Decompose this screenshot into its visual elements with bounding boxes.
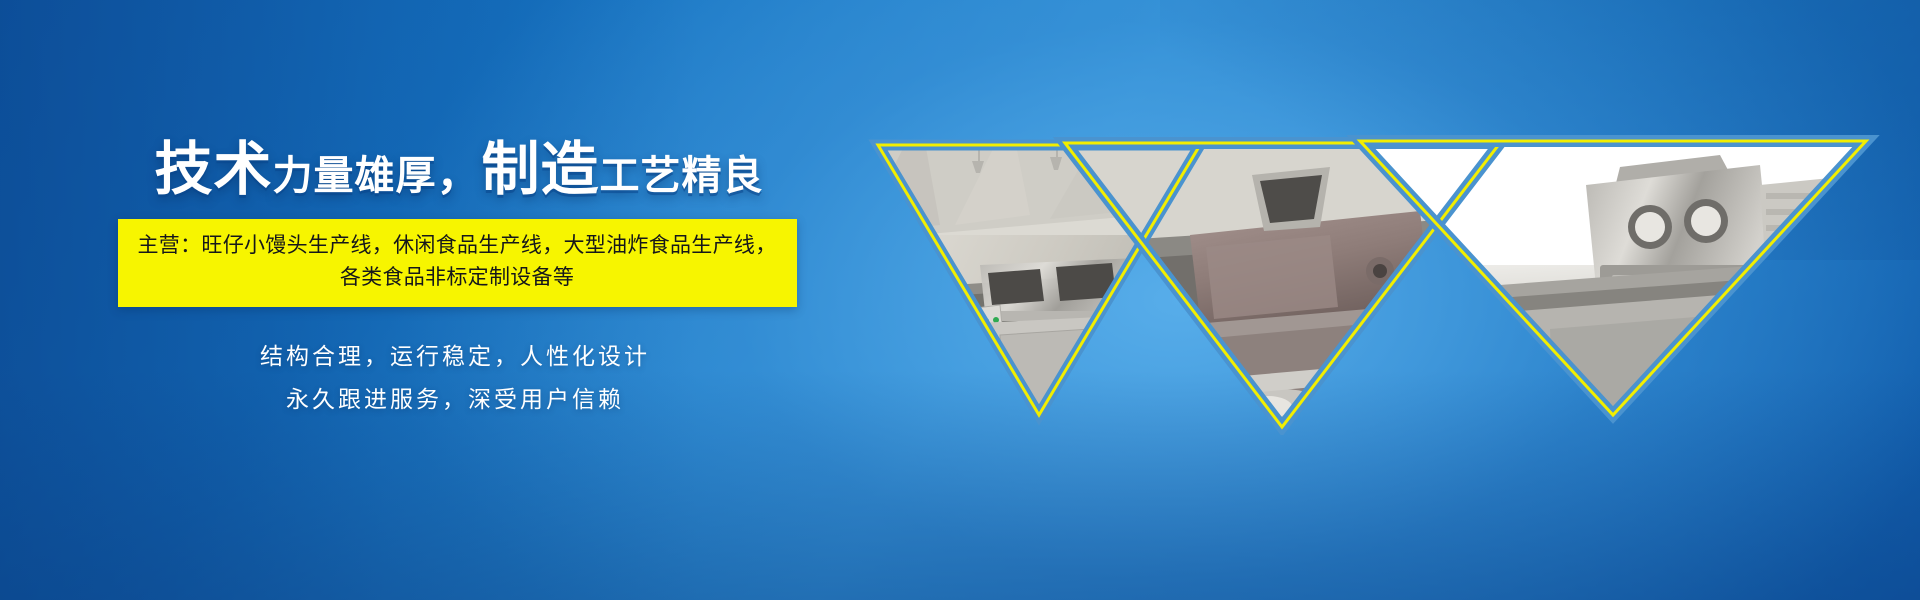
collage-svg xyxy=(860,115,1920,435)
tagline-line-1: 结构合理，运行稳定，人性化设计 xyxy=(10,335,900,378)
headline-comma: ， xyxy=(437,150,482,199)
banner-text-block: 技术力量雄厚，制造工艺精良 主营：旺仔小馒头生产线，休闲食品生产线，大型油炸食品… xyxy=(0,140,900,420)
highlight-banner-line-2: 各类食品非标定制设备等 xyxy=(138,262,777,295)
headline-segment-2: 力量雄厚 xyxy=(273,154,437,198)
highlight-banner-line-1: 主营：旺仔小馒头生产线，休闲食品生产线，大型油炸食品生产线， xyxy=(138,230,777,263)
highlight-banner: 主营：旺仔小馒头生产线，休闲食品生产线，大型油炸食品生产线， 各类食品非标定制设… xyxy=(118,219,797,307)
headline-segment-4: 工艺精良 xyxy=(600,154,764,198)
promo-banner: 技术力量雄厚，制造工艺精良 主营：旺仔小馒头生产线，休闲食品生产线，大型油炸食品… xyxy=(0,0,1920,600)
tagline-block: 结构合理，运行稳定，人性化设计 永久跟进服务，深受用户信赖 xyxy=(10,335,900,420)
tagline-line-2: 永久跟进服务，深受用户信赖 xyxy=(10,378,900,421)
triangle-photo-right xyxy=(1340,115,1880,435)
triangle-photo-collage xyxy=(860,115,1920,435)
page-title: 技术力量雄厚，制造工艺精良 xyxy=(18,140,900,201)
headline-segment-3: 制造 xyxy=(482,137,600,202)
headline-segment-1: 技术 xyxy=(154,137,272,202)
